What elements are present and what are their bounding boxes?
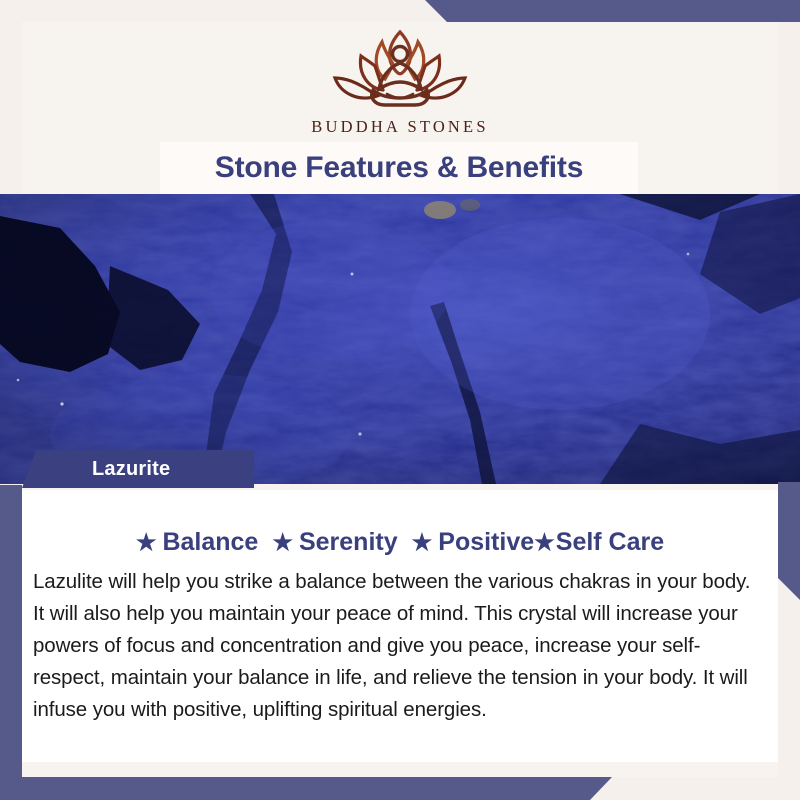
stone-name-tag: Lazurite xyxy=(22,450,254,488)
brand-logo: BUDDHA STONES xyxy=(0,22,800,146)
benefits-row: ★ Balance ★ Serenity ★ Positive ★ Self C… xyxy=(22,528,778,557)
star-icon: ★ xyxy=(272,531,293,554)
benefit-positive: Positive xyxy=(438,528,534,557)
page-title: Stone Features & Benefits xyxy=(215,151,583,185)
frame-accent-top-right xyxy=(0,0,800,22)
stone-description: Lazulite will help you strike a balance … xyxy=(33,566,753,726)
stone-name-label: Lazurite xyxy=(92,458,170,481)
stone-photo xyxy=(0,194,800,484)
stone-photo-render xyxy=(0,194,800,484)
frame-accent-bottom xyxy=(0,777,800,800)
brand-name: BUDDHA STONES xyxy=(311,117,488,137)
frame-accent-right xyxy=(778,482,800,600)
benefit-serenity: Serenity xyxy=(299,528,398,557)
lotus-meditation-figure-icon xyxy=(325,26,475,114)
benefit-self-care: Self Care xyxy=(556,528,664,557)
benefit-balance: Balance xyxy=(162,528,258,557)
star-icon: ★ xyxy=(136,531,157,554)
frame-accent-left xyxy=(0,485,22,777)
star-icon: ★ xyxy=(534,531,555,554)
page-title-banner: Stone Features & Benefits xyxy=(160,142,638,194)
star-icon: ★ xyxy=(412,531,433,554)
